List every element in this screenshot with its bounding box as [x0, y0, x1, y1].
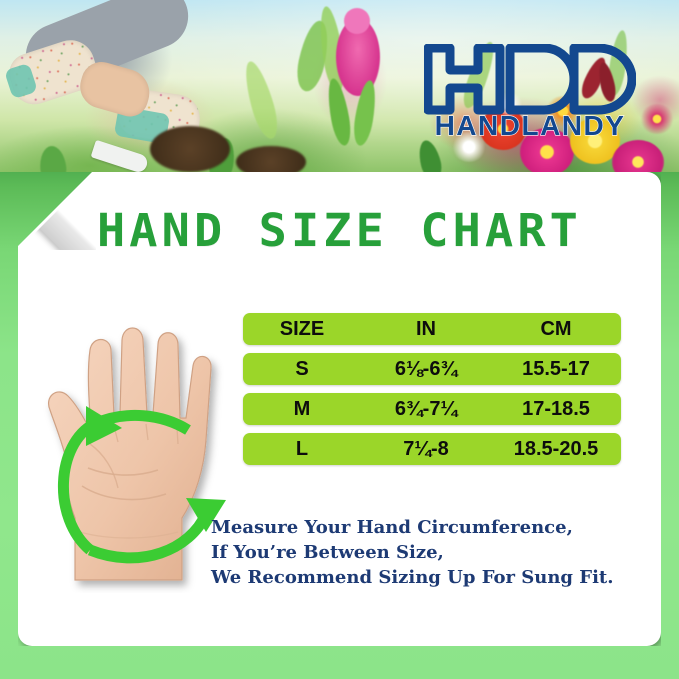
note-line-2: If You’re Between Size,: [211, 540, 641, 565]
sizing-note: Measure Your Hand Circumference, If You’…: [211, 515, 641, 590]
column-header-cm: CM: [491, 318, 621, 341]
logo-wordmark: HANDLANDY: [435, 110, 626, 140]
cell-in-s: 6⅛-6¾: [361, 358, 491, 381]
cell-in-m: 6¾-7¼: [361, 398, 491, 421]
cell-in-l: 7¼-8: [361, 438, 491, 461]
cell-cm-s: 15.5-17: [491, 358, 621, 381]
hand-size-chart-graphic: HANDLANDY HAND SIZE CHART: [0, 0, 679, 679]
cell-size-s: S: [243, 358, 361, 381]
note-line-1: Measure Your Hand Circumference,: [211, 515, 641, 540]
table-row: M 6¾-7¼ 17-18.5: [243, 393, 621, 425]
column-header-in: IN: [361, 318, 491, 341]
cell-cm-m: 17-18.5: [491, 398, 621, 421]
handlandy-logo: HANDLANDY: [424, 44, 636, 140]
soil-clump: [150, 126, 230, 172]
cell-size-m: M: [243, 398, 361, 421]
hand-illustration: [30, 318, 235, 593]
table-header-row: SIZE IN CM: [243, 313, 621, 345]
cell-size-l: L: [243, 438, 361, 461]
page-title: HAND SIZE CHART: [0, 204, 679, 257]
soil-clump-2: [236, 146, 306, 172]
note-line-3: We Recommend Sizing Up For Sung Fit.: [211, 565, 641, 590]
size-table: SIZE IN CM S 6⅛-6¾ 15.5-17 M 6¾-7¼ 17-18…: [243, 313, 621, 473]
table-row: S 6⅛-6¾ 15.5-17: [243, 353, 621, 385]
cell-cm-l: 18.5-20.5: [491, 438, 621, 461]
table-row: L 7¼-8 18.5-20.5: [243, 433, 621, 465]
column-header-size: SIZE: [243, 318, 361, 341]
